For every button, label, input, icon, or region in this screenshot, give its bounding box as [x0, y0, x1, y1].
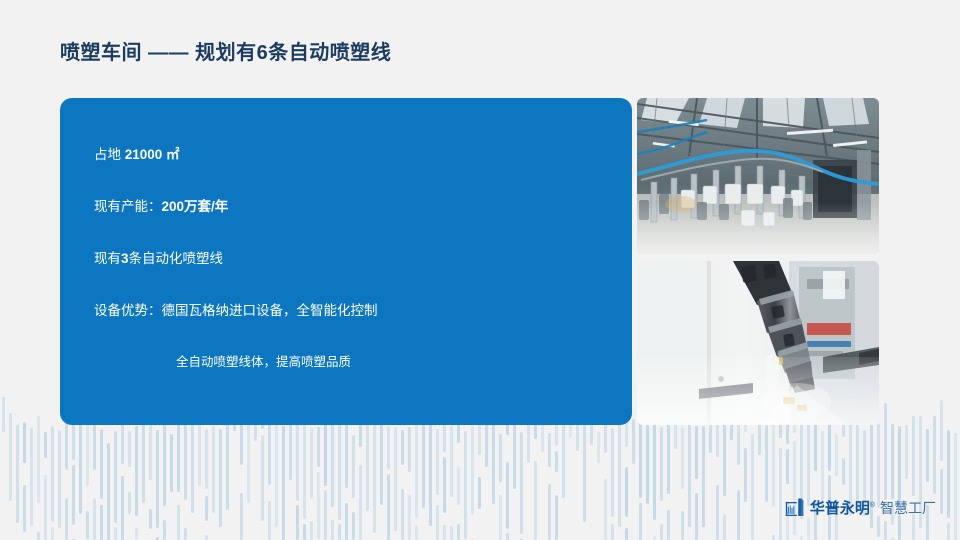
decorative-bar	[212, 426, 215, 513]
decorative-bar	[443, 457, 446, 513]
decorative-bar	[457, 467, 460, 505]
decorative-bar	[352, 435, 355, 498]
decorative-bar	[219, 429, 222, 527]
decorative-bar	[226, 423, 229, 510]
info-panel: 占地 21000 ㎡ 现有产能：200万套/年 现有3条自动化喷塑线 设备优势：…	[60, 98, 632, 425]
decorative-bar	[471, 426, 474, 515]
decorative-bar	[30, 428, 33, 526]
decorative-bar	[401, 489, 404, 540]
decorative-bar	[37, 532, 40, 540]
decorative-bar	[674, 424, 677, 449]
decorative-bar	[170, 434, 173, 492]
decorative-bar	[926, 429, 929, 482]
decorative-bar	[415, 425, 418, 518]
decorative-bar	[107, 443, 110, 540]
decorative-bar	[534, 461, 537, 540]
photo-factory-line-graphic	[637, 98, 879, 254]
decorative-bar	[723, 419, 726, 496]
decorative-bar	[835, 434, 838, 476]
page-title: 喷塑车间 —— 规划有6条自动喷塑线	[60, 36, 391, 65]
decorative-bar	[44, 432, 47, 458]
decorative-bar	[786, 449, 789, 484]
registered-mark: ®	[870, 502, 875, 509]
info-line-existing-lines: 现有3条自动化喷塑线	[94, 250, 598, 269]
decorative-bar	[562, 420, 565, 498]
decorative-bar	[653, 422, 656, 520]
decorative-bar	[261, 435, 264, 521]
decorative-bar	[303, 412, 306, 519]
photo-spray-booth	[637, 261, 879, 425]
brand-logo: 华普永明® 智慧工厂	[785, 497, 936, 518]
decorative-bar	[240, 493, 243, 540]
decorative-bar	[891, 424, 894, 499]
decorative-bar	[72, 465, 75, 525]
decorative-bar	[205, 535, 208, 540]
decorative-bar	[163, 422, 166, 506]
decorative-bar	[506, 462, 509, 529]
decorative-bar	[555, 495, 558, 540]
decorative-bar	[100, 429, 103, 499]
decorative-bar	[128, 492, 131, 514]
decorative-bar	[338, 524, 341, 540]
decorative-bar	[450, 526, 453, 540]
decorative-bar	[709, 425, 712, 453]
decorative-bar	[660, 427, 663, 501]
decorative-bar	[72, 424, 75, 460]
decorative-bar	[625, 467, 628, 517]
decorative-bar	[856, 412, 859, 510]
decorative-bar	[884, 521, 887, 540]
decorative-bar	[422, 419, 425, 508]
decorative-bar	[338, 414, 341, 520]
info-line-area-label: 占地	[94, 147, 125, 162]
decorative-bar	[681, 427, 684, 489]
decorative-bar	[625, 528, 628, 540]
decorative-bar	[114, 527, 117, 540]
decorative-bar	[877, 516, 880, 537]
info-line-area: 占地 21000 ㎡	[94, 146, 598, 165]
decorative-bar	[464, 431, 467, 539]
photo-factory-line	[637, 98, 879, 254]
decorative-bar	[653, 536, 656, 540]
decorative-bar	[310, 428, 313, 499]
decorative-bar	[16, 425, 19, 523]
decorative-bar	[737, 422, 740, 465]
decorative-bar	[44, 475, 47, 540]
decorative-bar	[121, 476, 124, 540]
info-line-quality: 全自动喷塑线体，提高喷塑品质	[94, 354, 598, 372]
decorative-bar	[268, 501, 271, 540]
decorative-bar	[450, 426, 453, 497]
decorative-bar	[520, 432, 523, 534]
decorative-bar	[898, 426, 901, 508]
decorative-bar	[324, 490, 327, 540]
decorative-bar	[387, 474, 390, 540]
decorative-bar	[940, 469, 943, 514]
decorative-bar	[436, 505, 439, 540]
decorative-bar	[23, 485, 26, 532]
decorative-bar	[723, 514, 726, 540]
decorative-bar	[618, 424, 621, 527]
decorative-bar	[667, 510, 670, 540]
decorative-bar	[317, 472, 320, 539]
decorative-bar	[583, 416, 586, 522]
info-line-existing-lines-prefix: 现有	[94, 251, 121, 266]
decorative-bar	[695, 426, 698, 479]
info-line-capacity: 现有产能：200万套/年	[94, 198, 598, 217]
decorative-bar	[373, 421, 376, 533]
decorative-bar	[765, 425, 768, 502]
decorative-bar	[86, 511, 89, 539]
decorative-bar	[282, 426, 285, 540]
decorative-bar	[457, 524, 460, 540]
decorative-bar	[940, 400, 943, 461]
decorative-bar	[128, 431, 131, 467]
decorative-bar	[716, 485, 719, 540]
decorative-bar	[443, 525, 446, 540]
decorative-bar	[611, 428, 614, 517]
decorative-bar	[156, 430, 159, 528]
decorative-bar	[408, 495, 411, 540]
decorative-bar	[681, 511, 684, 540]
decorative-bar	[51, 426, 54, 522]
decorative-bar	[821, 431, 824, 507]
decorative-bar	[947, 430, 950, 518]
decorative-bar	[499, 434, 502, 482]
decorative-bar	[275, 421, 278, 527]
decorative-bar	[499, 495, 502, 540]
decorative-bar	[380, 419, 383, 505]
decorative-bar	[324, 421, 327, 486]
decorative-bar	[807, 518, 810, 540]
decorative-bar	[65, 498, 68, 540]
decorative-bar	[345, 416, 348, 488]
decorative-bar	[415, 525, 418, 540]
decorative-bar	[793, 441, 796, 535]
decorative-bar	[296, 505, 299, 540]
decorative-bar	[93, 498, 96, 540]
decorative-bar	[408, 427, 411, 472]
decorative-bar	[317, 427, 320, 467]
decorative-bar	[744, 448, 747, 502]
decorative-bar	[660, 524, 663, 540]
decorative-bar	[478, 477, 481, 509]
decorative-bar	[205, 429, 208, 489]
decorative-bar	[884, 403, 887, 500]
decorative-bar	[303, 524, 306, 540]
decorative-bar	[352, 512, 355, 540]
decorative-bar	[79, 414, 82, 514]
decorative-bar	[688, 413, 691, 527]
decorative-bar	[905, 425, 908, 479]
decorative-bar	[842, 458, 845, 485]
decorative-bar	[548, 484, 551, 540]
decorative-bar	[597, 432, 600, 463]
decorative-bar	[800, 536, 803, 540]
decorative-bar	[702, 426, 705, 527]
decorative-bar	[779, 448, 782, 540]
decorative-bar	[100, 505, 103, 540]
decorative-bar	[9, 413, 12, 501]
decorative-bar	[310, 521, 313, 540]
decorative-bar	[149, 509, 152, 529]
info-line-capacity-label: 现有产能：	[94, 199, 162, 214]
decorative-bar	[611, 524, 614, 540]
decorative-bar	[737, 490, 740, 540]
decorative-bar	[436, 429, 439, 495]
brand-tagline: 智慧工厂	[880, 498, 936, 518]
decorative-bar	[429, 424, 432, 526]
decorative-bar	[240, 423, 243, 465]
decorative-bar	[954, 433, 957, 540]
decorative-bar	[632, 419, 635, 464]
decorative-bar	[506, 533, 509, 540]
brand-name: 华普永明®	[810, 497, 875, 518]
decorative-bar	[933, 416, 936, 494]
photo-spray-booth-graphic	[637, 261, 879, 425]
info-line-equipment-advantage: 设备优势：德国瓦格纳进口设备，全智能化控制	[94, 302, 598, 321]
decorative-bar	[114, 431, 117, 523]
decorative-bar	[751, 434, 754, 540]
decorative-bar	[23, 422, 26, 463]
decorative-bar	[163, 520, 166, 540]
decorative-bar	[289, 416, 292, 480]
decorative-bar	[947, 522, 950, 540]
info-line-existing-lines-suffix: 条自动化喷塑线	[129, 251, 224, 266]
decorative-bar	[912, 416, 915, 496]
decorative-bar	[359, 465, 362, 540]
decorative-bar	[877, 424, 880, 508]
decorative-bar	[205, 496, 208, 521]
decorative-bar	[639, 503, 642, 540]
decorative-bar	[513, 419, 516, 489]
factory-logo-icon	[785, 498, 805, 517]
decorative-bar	[387, 426, 390, 470]
decorative-bar	[548, 433, 551, 467]
decorative-bar	[394, 427, 397, 531]
decorative-bar	[401, 430, 404, 465]
decorative-bar	[667, 421, 670, 494]
decorative-bar	[527, 421, 530, 463]
decorative-bar	[639, 416, 642, 498]
decorative-bar	[695, 493, 698, 540]
decorative-bar	[555, 451, 558, 472]
decorative-bar	[135, 426, 138, 516]
decorative-bar	[58, 430, 61, 528]
decorative-bar	[2, 397, 5, 432]
decorative-bar	[177, 505, 180, 540]
decorative-bar	[51, 527, 54, 540]
info-line-area-value: 21000 ㎡	[125, 147, 180, 162]
decorative-bar	[772, 535, 775, 540]
decorative-bar	[37, 416, 40, 503]
decorative-bar	[184, 528, 187, 540]
decorative-bar	[345, 503, 348, 540]
decorative-bar	[604, 479, 607, 540]
info-line-capacity-value: 200万套/年	[162, 199, 229, 214]
decorative-bar	[135, 528, 138, 540]
info-line-existing-lines-count: 3	[121, 251, 129, 266]
decorative-bar	[331, 520, 334, 540]
